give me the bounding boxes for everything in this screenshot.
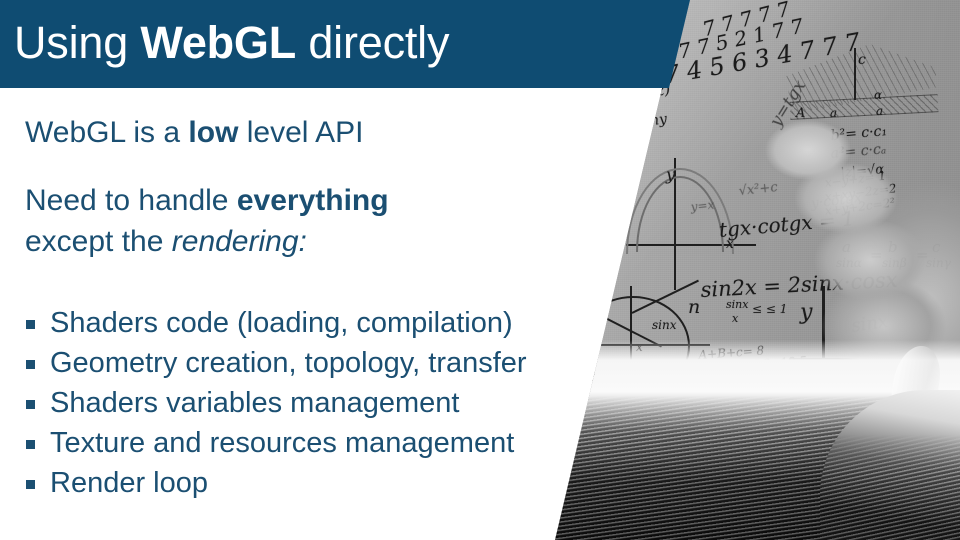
handwritten-formula: cotgx — [562, 285, 597, 302]
paragraph-spacer — [25, 153, 605, 180]
slide-body: WebGL is a low level API Need to handle … — [25, 112, 605, 262]
bullet-label: Geometry creation, topology, transfer — [50, 347, 527, 379]
paragraph-except-italic: rendering: — [172, 225, 307, 258]
handwritten-formula: y — [666, 165, 675, 184]
bullet-list: Shaders code (loading, compilation)Geome… — [26, 303, 626, 503]
paragraph-handle-line1: Need to handle everything — [25, 180, 605, 221]
handwritten-formula: c — [858, 52, 866, 68]
bullet-label: Texture and resources management — [50, 427, 514, 459]
title-bar: Using WebGL directly — [0, 0, 690, 88]
bullet-item: Shaders code (loading, compilation) — [26, 303, 626, 343]
title-prefix: Using — [14, 17, 140, 68]
bullet-label: Shaders variables management — [50, 387, 459, 419]
page-title: Using WebGL directly — [14, 12, 449, 74]
handwritten-formula: α — [874, 88, 882, 102]
paragraph-api-prefix: WebGL is a — [25, 116, 188, 149]
handwritten-formula: A — [796, 106, 805, 121]
bullet-label: Shaders code (loading, compilation) — [50, 307, 513, 339]
handwritten-formula: sinx — [652, 318, 677, 332]
handwritten-formula: a — [830, 106, 837, 120]
bullet-item: Texture and resources management — [26, 423, 626, 463]
handwritten-formula: n — [688, 296, 700, 318]
title-emphasis: WebGL — [140, 17, 296, 68]
paragraph-handle-prefix: Need to handle — [25, 184, 237, 217]
paragraph-handle-bold: everything — [237, 184, 389, 217]
bullet-item: Shaders variables management — [26, 383, 626, 423]
handwritten-formula: y=x — [690, 198, 715, 214]
paragraph-except-prefix: except the — [25, 225, 172, 258]
paragraph-handle-line2: except the rendering: — [25, 221, 605, 262]
presentation-slide: =sin²x7 7 7 7 77 7 5 2 1 7 77 4 5 6 3 4 … — [0, 0, 960, 540]
paragraph-api-suffix: level API — [238, 116, 363, 149]
title-suffix: directly — [296, 17, 449, 68]
paragraph-api-bold: low — [188, 116, 238, 149]
handwritten-formula: sinx — [726, 298, 748, 311]
bullet-item: Geometry creation, topology, transfer — [26, 343, 626, 383]
handwritten-formula: x — [732, 312, 738, 325]
bullet-item: Render loop — [26, 463, 626, 503]
bullet-label: Render loop — [50, 467, 208, 499]
handwritten-formula: a — [876, 104, 883, 118]
paragraph-api: WebGL is a low level API — [25, 112, 605, 153]
